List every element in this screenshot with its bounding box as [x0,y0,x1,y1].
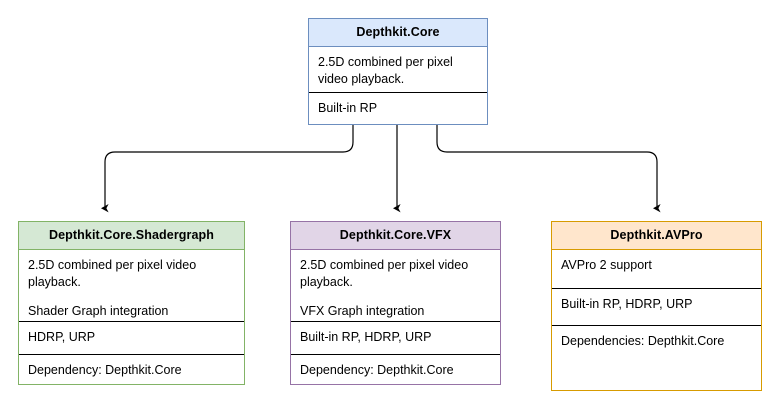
node-section-dependency: Dependency: Depthkit.Core [291,355,500,389]
node-section-pipelines: Built-in RP, HDRP, URP [291,322,500,355]
edge-core-to-avpro [437,125,657,208]
core-description-text: 2.5D combined per pixel video playback. [318,54,478,87]
node-section-dependency: Dependencies: Depthkit.Core [552,326,761,390]
shadergraph-description-text: 2.5D combined per pixel video playback. [28,257,235,290]
core-pipelines-text: Built-in RP [318,100,478,117]
node-depthkit-core[interactable]: Depthkit.Core 2.5D combined per pixel vi… [308,18,488,125]
node-section-pipelines: HDRP, URP [19,322,244,355]
node-title-depthkit-core-shadergraph: Depthkit.Core.Shadergraph [19,222,244,250]
node-depthkit-core-vfx[interactable]: Depthkit.Core.VFX 2.5D combined per pixe… [290,221,501,385]
node-title-depthkit-core-vfx: Depthkit.Core.VFX [291,222,500,250]
node-title-depthkit-core: Depthkit.Core [309,19,487,47]
diagram-canvas: Depthkit.Core 2.5D combined per pixel vi… [0,0,781,411]
vfx-dependency-text: Dependency: Depthkit.Core [300,362,491,379]
avpro-pipelines-text: Built-in RP, HDRP, URP [561,296,752,313]
avpro-support-text: AVPro 2 support [561,257,752,274]
avpro-dependency-text: Dependencies: Depthkit.Core [561,333,752,350]
edge-core-to-shadergraph [105,125,353,208]
node-depthkit-core-shadergraph[interactable]: Depthkit.Core.Shadergraph 2.5D combined … [18,221,245,385]
shadergraph-pipelines-text: HDRP, URP [28,329,235,346]
node-section-dependency: Dependency: Depthkit.Core [19,355,244,389]
vfx-description-text: 2.5D combined per pixel video playback. [300,257,491,290]
vfx-integration-text: VFX Graph integration [300,303,491,320]
node-section-support: AVPro 2 support [552,250,761,289]
node-depthkit-avpro[interactable]: Depthkit.AVPro AVPro 2 support Built-in … [551,221,762,391]
shadergraph-integration-text: Shader Graph integration [28,303,235,320]
vfx-pipelines-text: Built-in RP, HDRP, URP [300,329,491,346]
node-section-pipelines: Built-in RP [309,93,487,127]
node-title-depthkit-avpro: Depthkit.AVPro [552,222,761,250]
node-section-description: 2.5D combined per pixel video playback. [309,47,487,93]
node-section-pipelines: Built-in RP, HDRP, URP [552,289,761,326]
node-section-description: 2.5D combined per pixel video playback. … [291,250,500,322]
node-section-description: 2.5D combined per pixel video playback. … [19,250,244,322]
shadergraph-dependency-text: Dependency: Depthkit.Core [28,362,235,379]
